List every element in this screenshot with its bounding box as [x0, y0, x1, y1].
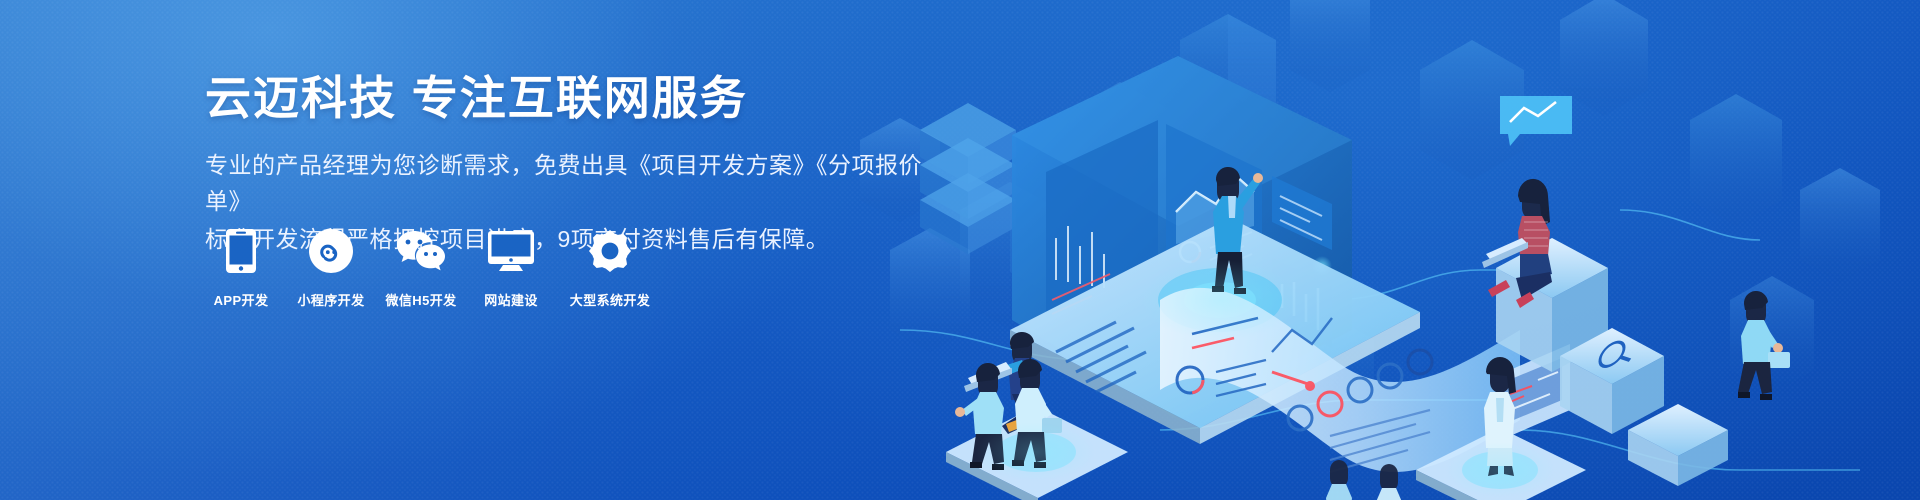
- hero-banner: 云迈科技 专注互联网服务 专业的产品经理为您诊断需求，免费出具《项目开发方案》《…: [0, 0, 1920, 500]
- service-list: APP开发 小程序开发: [205, 228, 655, 309]
- service-label: 小程序开发: [297, 290, 364, 309]
- monitor-icon: [488, 228, 534, 274]
- service-label: 微信H5开发: [385, 290, 456, 309]
- wechat-icon: [396, 228, 446, 274]
- service-label: APP开发: [214, 290, 269, 309]
- service-item-large-system[interactable]: 大型系统开发: [565, 228, 655, 309]
- gear-icon: [589, 228, 631, 274]
- service-item-app[interactable]: APP开发: [205, 228, 277, 309]
- chat-bubble-chart: [1500, 96, 1572, 146]
- illustration-isometric-tech-scene: [860, 0, 1920, 500]
- service-item-website[interactable]: 网站建设: [475, 228, 547, 309]
- subtitle-line-1: 专业的产品经理为您诊断需求，免费出具《项目开发方案》《分项报价单》: [205, 147, 925, 219]
- mini-program-icon: [309, 228, 353, 274]
- server-stack: [920, 103, 1016, 254]
- service-item-mini-program[interactable]: 小程序开发: [295, 228, 367, 309]
- service-label: 网站建设: [484, 290, 538, 309]
- mobile-phone-icon: [226, 228, 256, 274]
- service-label: 大型系统开发: [570, 290, 650, 309]
- service-item-wechat-h5[interactable]: 微信H5开发: [385, 228, 457, 309]
- page-title: 云迈科技 专注互联网服务: [205, 72, 925, 125]
